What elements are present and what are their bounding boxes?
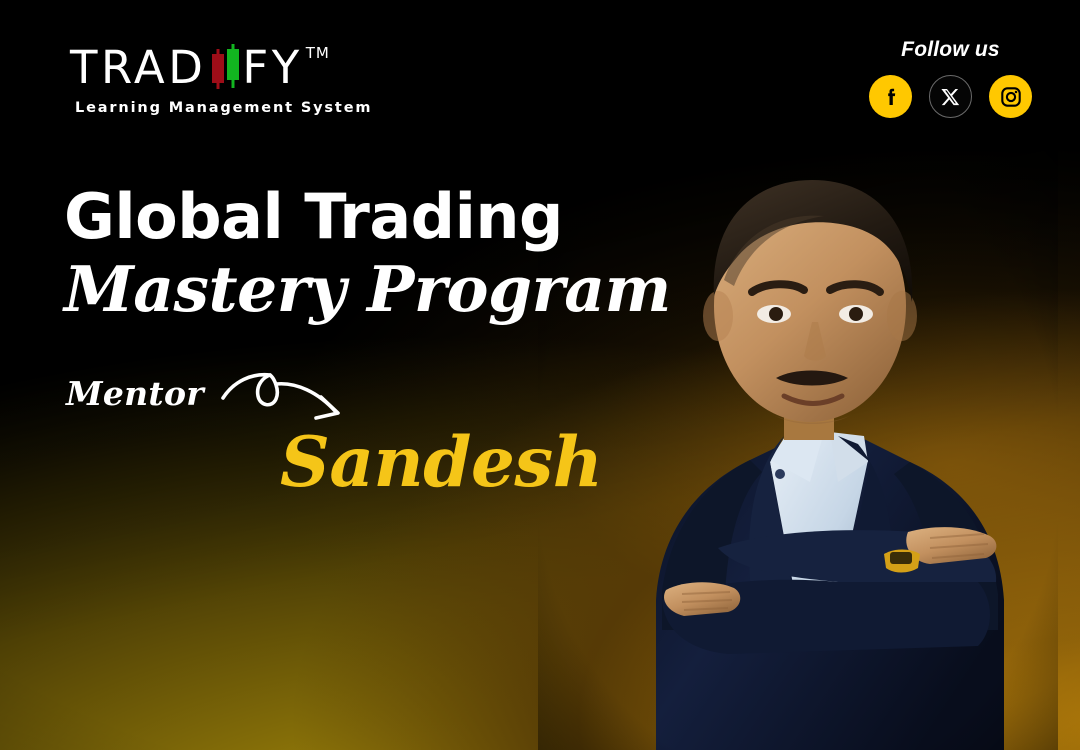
x-twitter-icon[interactable] — [929, 75, 972, 118]
logo-text-first: TRAD — [70, 45, 206, 91]
promo-banner: TRAD FY TM Learning Management System Fo… — [0, 0, 1080, 750]
follow-us-block: Follow us — [869, 38, 1032, 118]
brand-logo[interactable]: TRAD FY TM Learning Management System — [70, 45, 372, 116]
headline-line-2: Mastery Program — [64, 255, 671, 323]
instagram-icon[interactable] — [989, 75, 1032, 118]
logo-wordmark: TRAD FY TM — [70, 45, 372, 91]
mentor-label: Mentor — [66, 372, 204, 416]
trademark-symbol: TM — [306, 46, 330, 61]
brand-tagline: Learning Management System — [75, 100, 372, 116]
follow-us-label: Follow us — [901, 38, 1000, 62]
logo-text-second: FY — [242, 45, 302, 91]
headline: Global Trading Mastery Program — [64, 186, 671, 323]
candlestick-red-icon — [212, 45, 224, 91]
social-links — [869, 75, 1032, 118]
headline-line-1: Global Trading — [64, 186, 671, 248]
facebook-icon[interactable] — [869, 75, 912, 118]
candlestick-icon — [207, 45, 241, 91]
candlestick-green-icon — [227, 45, 239, 91]
mentor-name: Sandesh — [280, 428, 602, 497]
